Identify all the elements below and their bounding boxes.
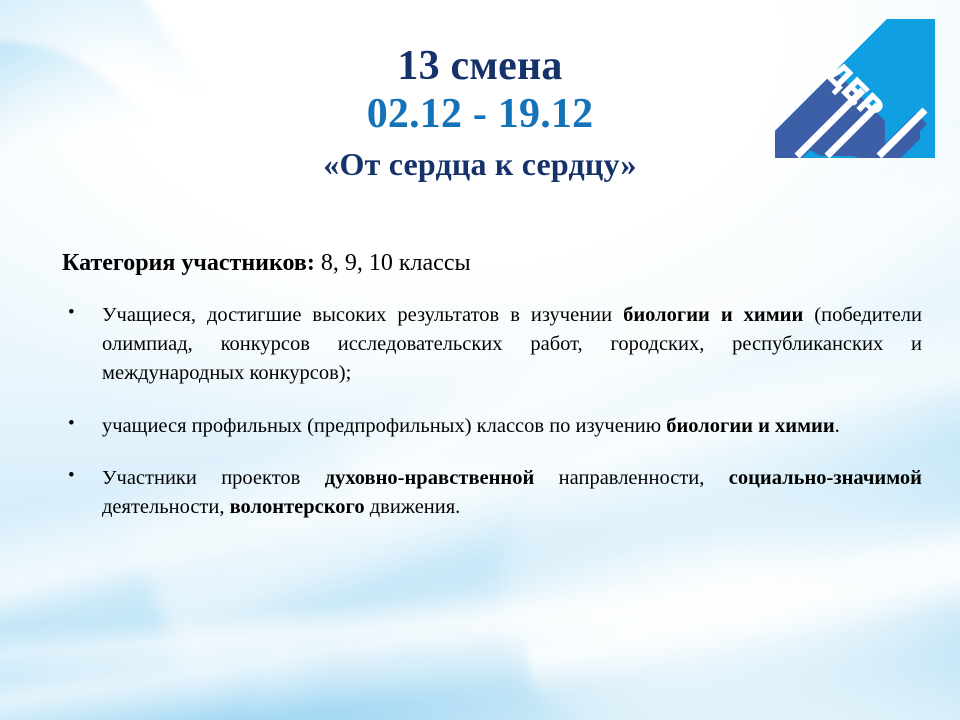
participant-category-value: 8, 9, 10 классы — [315, 250, 471, 276]
body-text: направленности, — [534, 467, 728, 489]
title-motto: «От сердца к сердцу» — [0, 140, 960, 190]
list-item: Участники проектов духовно-нравственной … — [62, 464, 922, 522]
emphasis-text: биологии и химии — [666, 415, 834, 437]
title-shift-number: 13 смена — [0, 44, 960, 89]
emphasis-text: социально-значимой — [729, 467, 922, 489]
presentation-slide: ЛИДЕР 13 смена 02.12 - 19.12 «От сердца … — [0, 0, 960, 720]
body-text: деятельности, — [102, 496, 230, 518]
emphasis-text: волонтерского — [230, 496, 365, 518]
title-date-range: 02.12 - 19.12 — [0, 89, 960, 140]
body-text: учащиеся профильных (предпрофильных) кла… — [102, 415, 666, 437]
slide-content: Категория участников: 8, 9, 10 классы Уч… — [62, 248, 922, 522]
slide-title-block: 13 смена 02.12 - 19.12 «От сердца к серд… — [0, 44, 960, 189]
body-text: движения. — [365, 496, 461, 518]
requirements-list: Учащиеся, достигшие высоких результатов … — [62, 301, 922, 522]
participant-category-line: Категория участников: 8, 9, 10 классы — [62, 248, 922, 279]
list-item: учащиеся профильных (предпрофильных) кла… — [62, 412, 922, 441]
emphasis-text: биологии и химии — [623, 304, 803, 326]
list-item: Учащиеся, достигшие высоких результатов … — [62, 301, 922, 388]
body-text: Учащиеся, достигшие высоких результатов … — [102, 304, 623, 326]
body-text: . — [835, 415, 840, 437]
participant-category-label: Категория участников: — [62, 250, 315, 276]
body-text: Участники проектов — [102, 467, 325, 489]
emphasis-text: духовно-нравственной — [325, 467, 535, 489]
